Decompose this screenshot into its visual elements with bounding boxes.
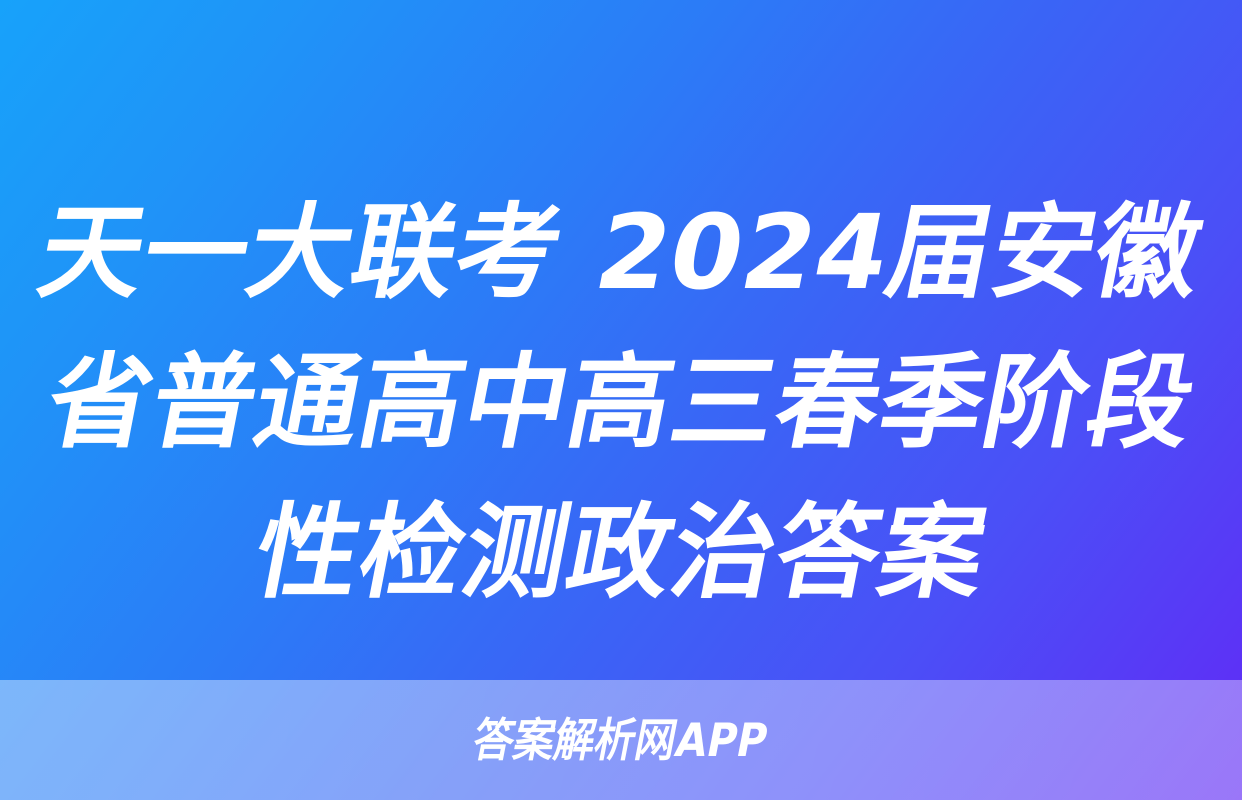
watermark-band: 答案解析网APP xyxy=(0,680,1242,800)
watermark-text: 答案解析网APP xyxy=(470,717,772,763)
headline-block: 天一大联考 2024届安徽 省普通高中高三春季阶段 性检测政治答案 xyxy=(0,178,1242,638)
poster-canvas: 天一大联考 2024届安徽 省普通高中高三春季阶段 性检测政治答案 答案解析网A… xyxy=(0,0,1242,800)
headline-line-3: 性检测政治答案 xyxy=(0,478,1242,628)
headline-line-1: 天一大联考 2024届安徽 xyxy=(0,178,1242,328)
headline-line-2: 省普通高中高三春季阶段 xyxy=(0,328,1242,478)
